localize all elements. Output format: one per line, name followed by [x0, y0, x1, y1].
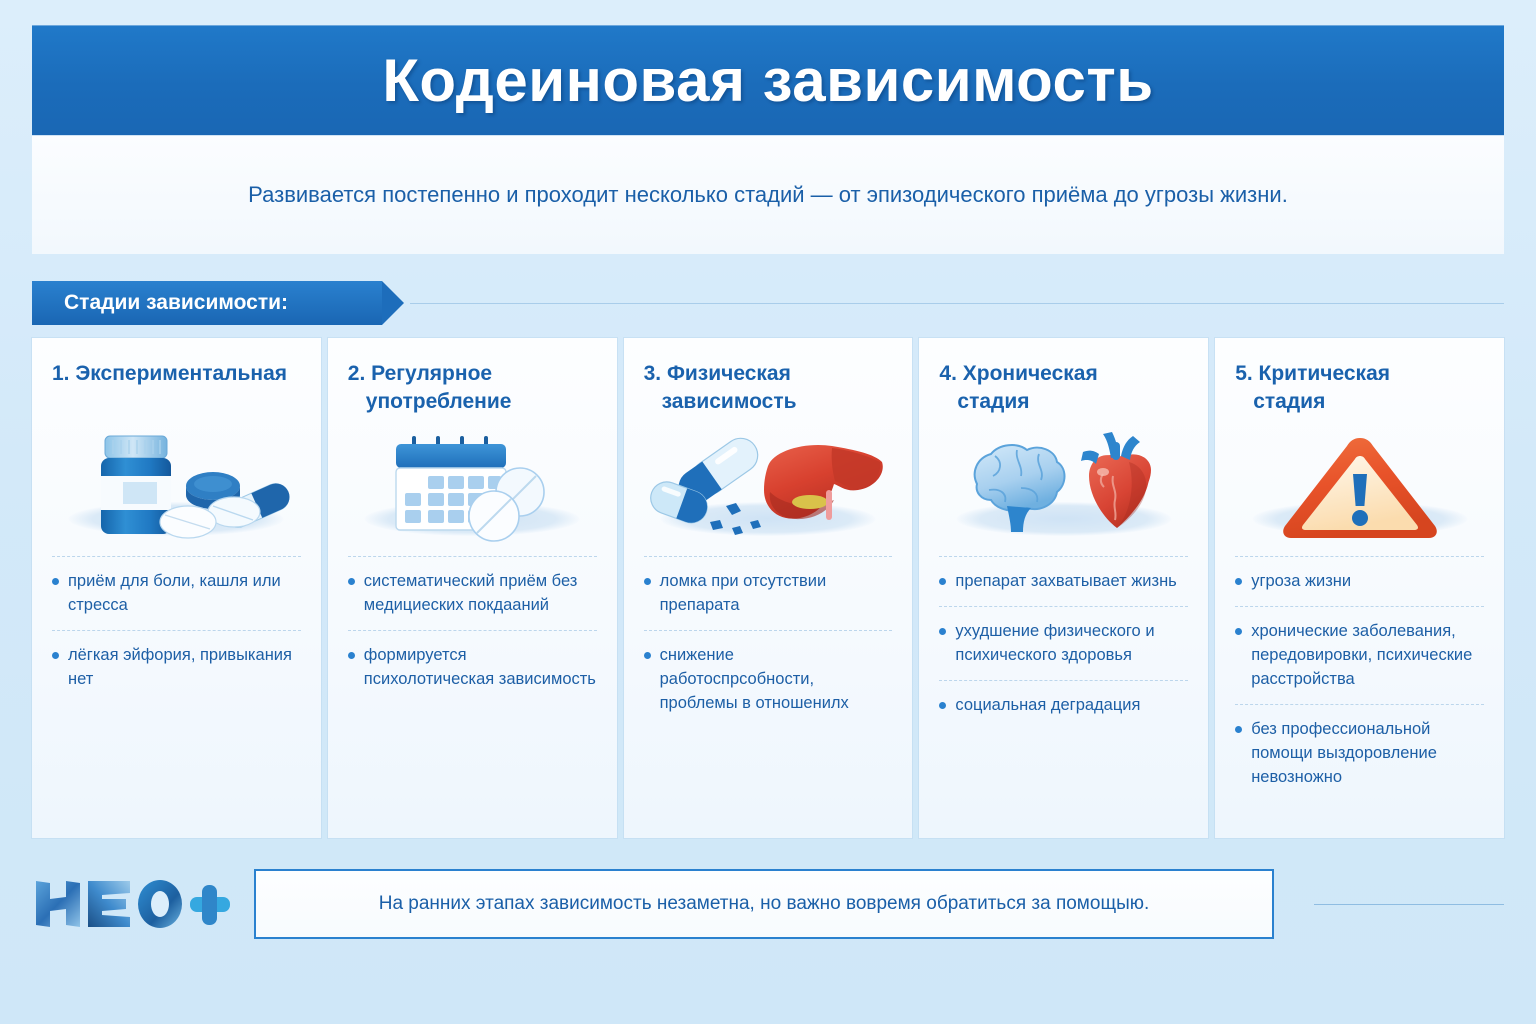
stage-card-4[interactable]: 4. Хроническая стадия: [919, 338, 1208, 838]
stage-card-3-title: 3. Физическая зависимость: [644, 360, 893, 422]
list-item: ухудшение физического и психического здо…: [939, 606, 1188, 680]
section-divider-rule: [410, 303, 1504, 304]
bullet-dot-icon: [644, 652, 651, 659]
stage-card-2-title-line2: употребление: [348, 388, 597, 416]
footer-note-box: На ранних этапах зависимость незаметна, …: [254, 869, 1274, 939]
bullet-dot-icon: [939, 578, 946, 585]
stage-card-5-title-line1: 5. Критическая: [1235, 362, 1390, 385]
bullet-text: угроза жизни: [1251, 570, 1351, 594]
warning-triangle-icon: [1275, 432, 1445, 542]
stage-card-5-title-line2: стадия: [1235, 388, 1484, 416]
list-item: приём для боли, кашля или стресса: [52, 556, 301, 630]
stage-card-4-bullets: препарат захватывает жизнь ухудшение физ…: [939, 556, 1188, 730]
stage-cards-row: 1. Экспериментальная: [32, 338, 1504, 838]
header-bar: Кодеиновая зависимость: [32, 25, 1504, 135]
stage-card-3-title-line2: зависимость: [644, 388, 893, 416]
bullet-text: хронические заболевания, передовировки, …: [1251, 620, 1484, 692]
list-item: снижение работоспрсобности, проблемы в о…: [644, 630, 893, 728]
capsule-liver-icon: [650, 432, 886, 542]
bullet-text: без профессиональной помощи выздоровлени…: [1251, 718, 1484, 790]
stage-card-1-icon-area: [52, 422, 301, 542]
stage-card-3-bullets: ломка при отсутствии препарата снижение …: [644, 556, 893, 728]
calendar-pills-icon: [372, 430, 572, 542]
list-item: социальная деградация: [939, 680, 1188, 730]
stage-card-4-title-line1: 4. Хроническая: [939, 362, 1097, 385]
neo-plus-logo-icon: [32, 873, 232, 935]
bullet-dot-icon: [1235, 726, 1242, 733]
stage-card-5-icon-area: [1235, 422, 1484, 542]
brand-logo: [32, 873, 232, 935]
stage-card-1-title: 1. Экспериментальная: [52, 360, 301, 422]
stage-card-3[interactable]: 3. Физическая зависимость: [624, 338, 913, 838]
bullet-text: систематический приём без медициеских по…: [364, 570, 597, 618]
section-ribbon: Стадии зависимости:: [32, 281, 382, 325]
pill-bottle-icon: [61, 430, 291, 542]
bullet-dot-icon: [644, 578, 651, 585]
stage-card-2-bullets: систематический приём без медициеских по…: [348, 556, 597, 704]
list-item: без профессиональной помощи выздоровлени…: [1235, 704, 1484, 802]
list-item: ломка при отсутствии препарата: [644, 556, 893, 630]
section-ribbon-label: Стадии зависимости:: [64, 291, 288, 315]
bullet-text: препарат захватывает жизнь: [955, 570, 1176, 594]
stage-card-2-title-line1: 2. Регулярное: [348, 362, 492, 385]
bullet-dot-icon: [348, 578, 355, 585]
stage-card-1-title-line1: 1. Экспериментальная: [52, 362, 287, 385]
stage-card-5[interactable]: 5. Критическая стадия: [1215, 338, 1504, 838]
stage-card-2-title: 2. Регулярное употребление: [348, 360, 597, 422]
stage-card-4-icon-area: [939, 422, 1188, 542]
stage-card-5-title: 5. Критическая стадия: [1235, 360, 1484, 422]
list-item: угроза жизни: [1235, 556, 1484, 606]
stage-card-3-title-line1: 3. Физическая: [644, 362, 791, 385]
footer: На ранних этапах зависимость незаметна, …: [32, 858, 1504, 950]
bullet-dot-icon: [52, 578, 59, 585]
bullet-dot-icon: [1235, 578, 1242, 585]
subtitle-text: Развивается постепенно и проходит нескол…: [248, 178, 1288, 212]
stage-card-1[interactable]: 1. Экспериментальная: [32, 338, 321, 838]
brain-heart-icon: [951, 432, 1177, 542]
page-title: Кодеиновая зависимость: [382, 46, 1153, 115]
bullet-dot-icon: [939, 628, 946, 635]
list-item: систематический приём без медициеских по…: [348, 556, 597, 630]
bullet-text: приём для боли, кашля или стресса: [68, 570, 301, 618]
bullet-text: лёгкая эйфория, привыкания нет: [68, 644, 301, 692]
bullet-text: социальная деградация: [955, 694, 1140, 718]
bullet-dot-icon: [348, 652, 355, 659]
subtitle-panel: Развивается постепенно и проходит нескол…: [32, 135, 1504, 254]
bullet-text: ухудшение физического и психического здо…: [955, 620, 1188, 668]
list-item: формируется психолотическая зависимость: [348, 630, 597, 704]
bullet-text: формируется психолотическая зависимость: [364, 644, 597, 692]
list-item: лёгкая эйфория, привыкания нет: [52, 630, 301, 704]
infographic-root: Кодеиновая зависимость Развивается посте…: [0, 0, 1536, 1024]
stage-card-2-icon-area: [348, 422, 597, 542]
section-header: Стадии зависимости:: [32, 281, 1504, 325]
list-item: препарат захватывает жизнь: [939, 556, 1188, 606]
stage-card-3-icon-area: [644, 422, 893, 542]
bullet-dot-icon: [52, 652, 59, 659]
stage-card-4-title-line2: стадия: [939, 388, 1188, 416]
footer-note-text: На ранних этапах зависимость незаметна, …: [379, 893, 1150, 915]
stage-card-1-bullets: приём для боли, кашля или стресса лёгкая…: [52, 556, 301, 704]
bullet-dot-icon: [1235, 628, 1242, 635]
bullet-dot-icon: [939, 702, 946, 709]
stage-card-5-bullets: угроза жизни хронические заболевания, пе…: [1235, 556, 1484, 801]
footer-rule: [1314, 904, 1504, 905]
bullet-text: снижение работоспрсобности, проблемы в о…: [660, 644, 893, 716]
stage-card-2[interactable]: 2. Регулярное употребление: [328, 338, 617, 838]
list-item: хронические заболевания, передовировки, …: [1235, 606, 1484, 704]
stage-card-4-title: 4. Хроническая стадия: [939, 360, 1188, 422]
bullet-text: ломка при отсутствии препарата: [660, 570, 893, 618]
